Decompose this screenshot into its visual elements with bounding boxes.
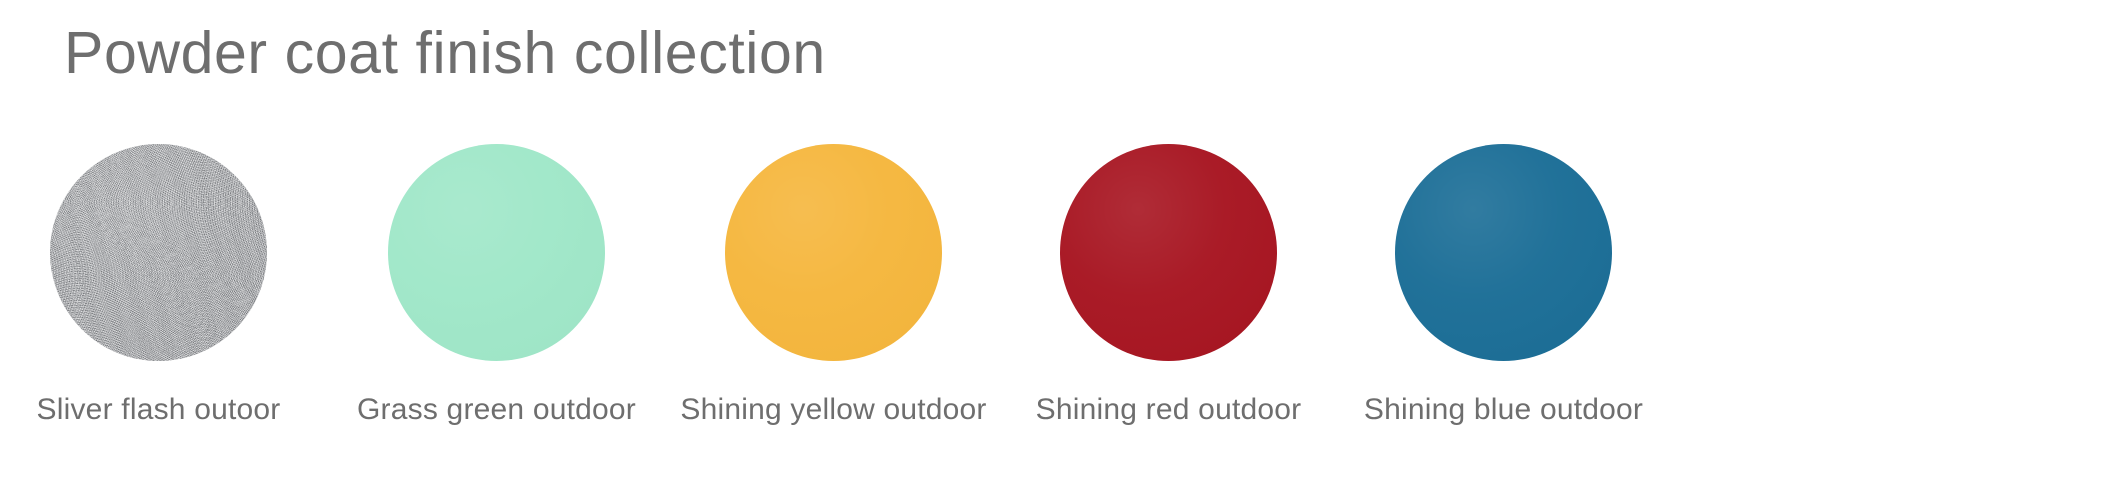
powder-coat-finish-page: Powder coat finish collection Sliver fla…	[0, 0, 2103, 484]
gloss-highlight-overlay	[1395, 144, 1612, 361]
swatch-item-shining-blue-outdoor[interactable]: Shining blue outdoor	[1395, 144, 1612, 361]
gloss-highlight-overlay	[725, 144, 942, 361]
page-title: Powder coat finish collection	[64, 22, 826, 86]
circle-swatch-icon[interactable]	[1060, 144, 1277, 361]
swatch-label: Shining blue outdoor	[1364, 392, 1643, 428]
swatch-label: Grass green outdoor	[357, 392, 636, 428]
swatch-item-shining-yellow-outdoor[interactable]: Shining yellow outdoor	[725, 144, 942, 361]
gloss-highlight-overlay	[388, 144, 605, 361]
swatch-label: Shining yellow outdoor	[680, 392, 986, 428]
circle-swatch-icon[interactable]	[1395, 144, 1612, 361]
swatch-label: Sliver flash outoor	[37, 392, 281, 428]
swatch-label: Shining red outdoor	[1036, 392, 1302, 428]
swatch-item-shining-red-outdoor[interactable]: Shining red outdoor	[1060, 144, 1277, 361]
circle-swatch-icon[interactable]	[725, 144, 942, 361]
swatch-item-sliver-flash-outoor[interactable]: Sliver flash outoor	[50, 144, 267, 361]
swatch-row: Sliver flash outoor Grass green outdoor …	[50, 144, 2050, 444]
circle-swatch-icon[interactable]	[50, 144, 267, 361]
gloss-highlight-overlay	[1060, 144, 1277, 361]
metallic-texture-overlay	[50, 144, 267, 361]
gloss-highlight-overlay	[50, 144, 267, 361]
swatch-item-grass-green-outdoor[interactable]: Grass green outdoor	[388, 144, 605, 361]
circle-swatch-icon[interactable]	[388, 144, 605, 361]
